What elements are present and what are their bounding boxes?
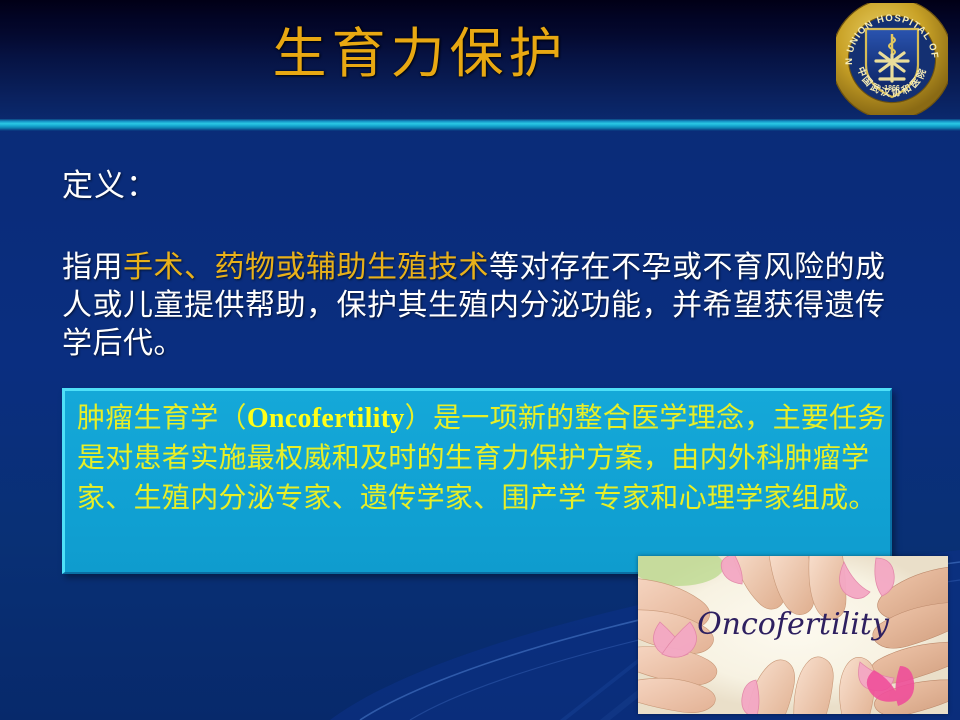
- presentation-slide: 生育力保护: [0, 0, 960, 720]
- hands-circle-illustration: Oncofertility: [638, 556, 948, 714]
- oncofertility-concept-box: 肿瘤生育学（Oncofertility）是一项新的整合医学理念，主要任务是对患者…: [62, 388, 892, 574]
- definition-label: 定义：: [62, 166, 158, 206]
- oncofertility-concept-text: 肿瘤生育学（Oncofertility）是一项新的整合医学理念，主要任务是对患者…: [77, 399, 889, 519]
- definition-segment-plain-1: 指用: [62, 251, 123, 284]
- definition-paragraph: 指用手术、药物或辅助生殖技术等对存在不孕或不育风险的成人或儿童提供帮助，保护其生…: [62, 249, 908, 363]
- oncofertility-hands-photo: Oncofertility: [638, 556, 948, 714]
- definition-segment-highlight: 手术、药物或辅助生殖技术: [123, 251, 489, 284]
- concept-segment-1: 肿瘤生育学（: [77, 403, 247, 434]
- concept-term-oncofertility: Oncofertility: [247, 403, 405, 434]
- photo-caption: Oncofertility: [697, 607, 890, 642]
- slide-title: 生育力保护: [0, 20, 960, 88]
- header-accent-divider: [0, 119, 960, 131]
- wuhan-union-hospital-logo: 1866 WUHAN UNION HOSPITAL OF CHINA 中国武汉协…: [836, 3, 948, 115]
